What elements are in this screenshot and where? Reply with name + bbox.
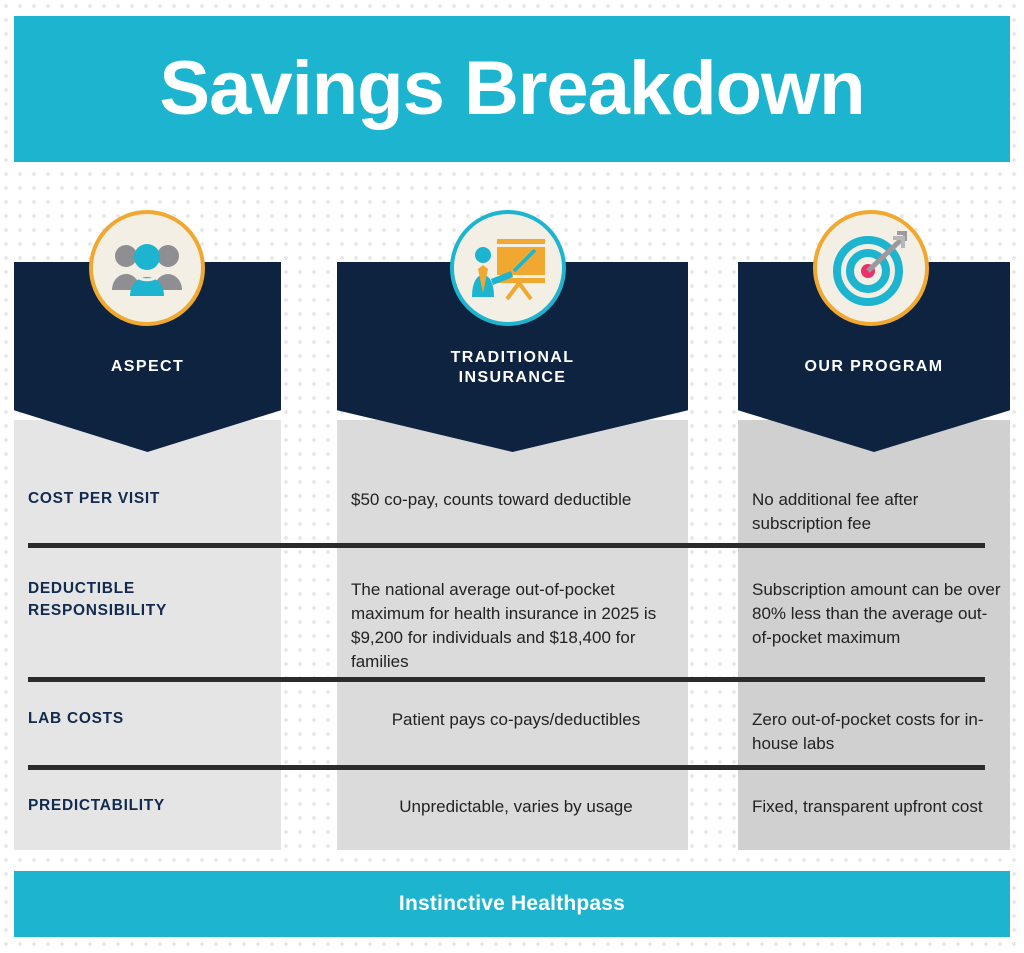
row-our-program-deductible-responsibility: Subscription amount can be over 80% less… — [752, 578, 1002, 650]
row-our-program-lab-costs: Zero out-of-pocket costs for in-house la… — [752, 708, 1002, 756]
row-divider — [28, 543, 985, 548]
row-our-program-predictability: Fixed, transparent upfront cost — [752, 795, 1002, 819]
column-header-aspect-label: ASPECT — [14, 357, 281, 377]
column-body-aspect — [14, 420, 281, 850]
row-label-line2: RESPONSIBILITY — [28, 600, 278, 622]
people-group-icon — [89, 210, 205, 326]
infographic-page: Savings Breakdown ASPECT TRADITIONAL INS… — [0, 0, 1024, 953]
row-label-lab-costs: LAB COSTS — [28, 708, 278, 730]
row-label-deductible-responsibility: DEDUCTIBLE RESPONSIBILITY — [28, 578, 278, 621]
row-our-program-cost-per-visit: No additional fee after subscription fee — [752, 488, 1002, 536]
page-title: Savings Breakdown — [159, 51, 864, 127]
footer-brand-label: Instinctive Healthpass — [399, 892, 625, 916]
target-bullseye-arrow-icon — [813, 210, 929, 326]
title-banner: Savings Breakdown — [14, 16, 1010, 162]
row-traditional-cost-per-visit: $50 co-pay, counts toward deductible — [351, 488, 681, 512]
row-label-cost-per-visit: COST PER VISIT — [28, 488, 278, 510]
column-header-traditional-line1: TRADITIONAL — [345, 348, 680, 368]
column-header-traditional-line2: INSURANCE — [345, 368, 680, 388]
footer-banner: Instinctive Healthpass — [14, 871, 1010, 937]
row-traditional-predictability: Unpredictable, varies by usage — [351, 795, 681, 819]
presentation-board-icon — [450, 210, 566, 326]
column-header-traditional-label: TRADITIONAL INSURANCE — [337, 348, 688, 389]
row-divider — [28, 765, 985, 770]
row-traditional-deductible-responsibility: The national average out-of-pocket maxim… — [351, 578, 681, 675]
row-traditional-lab-costs: Patient pays co-pays/deductibles — [351, 708, 681, 732]
column-header-our-program-label: OUR PROGRAM — [738, 357, 1010, 377]
row-divider — [28, 677, 985, 682]
row-label-line1: DEDUCTIBLE — [28, 578, 278, 600]
row-label-predictability: PREDICTABILITY — [28, 795, 278, 817]
